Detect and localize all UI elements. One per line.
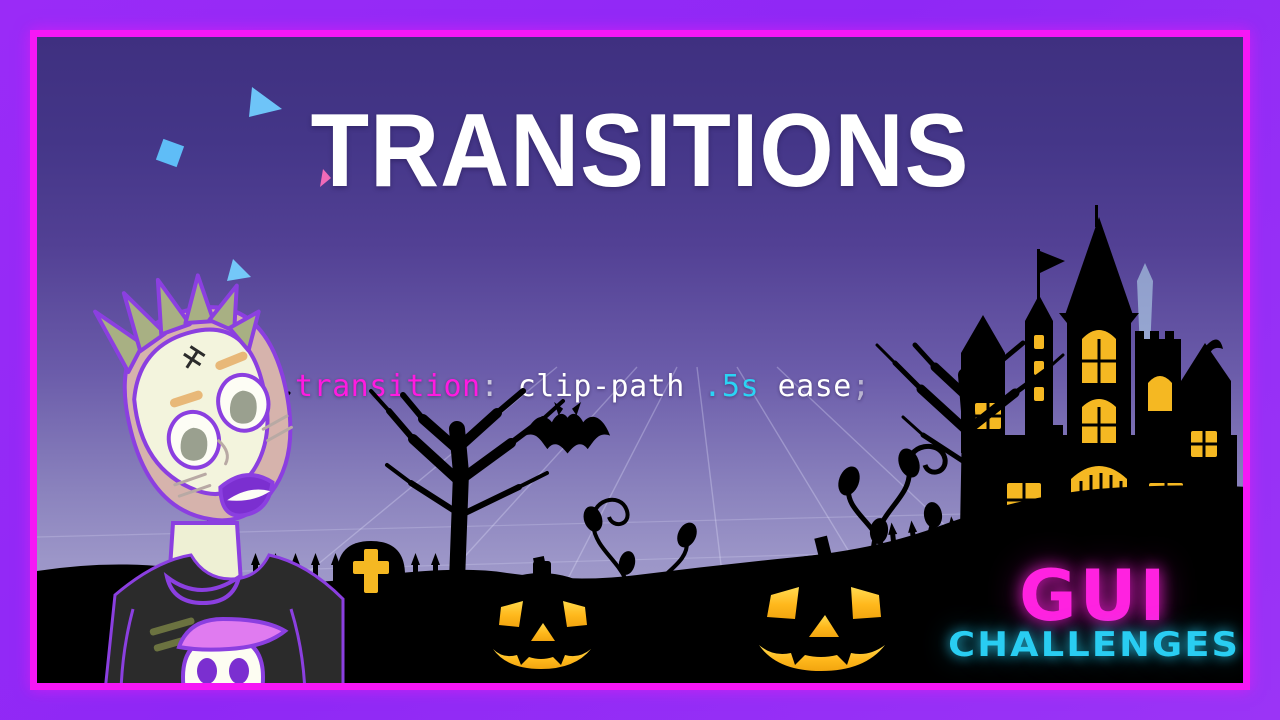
gui-challenges-logo: GUI CHALLENGES — [959, 563, 1229, 666]
grave-cross — [633, 575, 719, 671]
bat-silhouette — [525, 402, 610, 454]
logo-line-challenges: CHALLENGES — [948, 625, 1240, 665]
avatar-head — [91, 265, 310, 538]
jack-o-lantern — [467, 556, 615, 683]
bare-tree — [371, 391, 563, 581]
slide-root: TRANSITIONS transition: clip-path .5s ea… — [0, 0, 1280, 720]
avatar — [55, 265, 355, 683]
page-title: TRANSITIONS — [85, 99, 1195, 203]
bare-tree — [877, 343, 1063, 531]
logo-line-gui: GUI — [959, 563, 1229, 630]
halloween-scene: TRANSITIONS transition: clip-path .5s ea… — [37, 37, 1243, 683]
jack-o-lantern — [731, 536, 915, 683]
magenta-frame-border: TRANSITIONS transition: clip-path .5s ea… — [30, 30, 1250, 690]
